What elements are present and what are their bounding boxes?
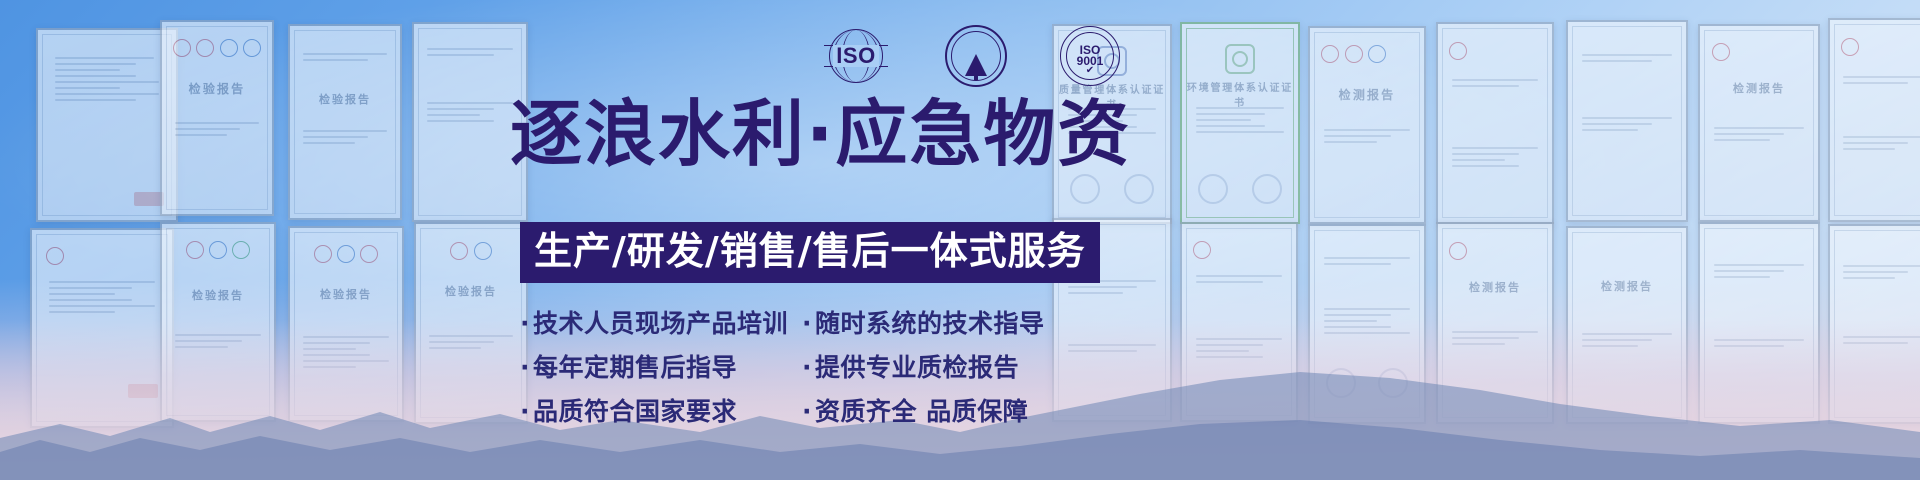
feature-item: ·提供专业质检报告 (802, 348, 1080, 384)
iso-14000-environment-icon (945, 25, 1007, 87)
iso-9001-quality-icon: ISO 9001 ✔ (1060, 26, 1120, 86)
feature-label: 技术人员现场产品培训 (533, 309, 788, 338)
feature-item: ·品质符合国家要求 (520, 392, 802, 428)
feature-label: 资质齐全 品质保障 (815, 397, 1028, 426)
feature-item: ·随时系统的技术指导 (802, 304, 1080, 340)
feature-label: 提供专业质检报告 (815, 353, 1019, 382)
bullet-dot-icon: · (802, 353, 812, 382)
bullet-dot-icon: · (802, 309, 812, 338)
iso-globe-label: ISO (833, 45, 878, 67)
feature-list: ·技术人员现场产品培训 ·随时系统的技术指导 ·每年定期售后指导 ·提供专业质检… (520, 300, 1080, 432)
bullet-dot-icon: · (520, 353, 530, 382)
bullet-dot-icon: · (802, 397, 812, 426)
bullet-dot-icon: · (520, 397, 530, 426)
banner-subtitle: 生产/研发/销售/售后一体式服务 (534, 228, 1086, 274)
banner-content: ISO ISO 9001 ✔ 逐浪水利·应急物资 生产/研发/销售/售后一体式服… (0, 0, 1920, 480)
banner-title: 逐浪水利·应急物资 (510, 96, 1090, 172)
feature-label: 品质符合国家要求 (533, 397, 737, 426)
promo-banner: 检验报告 检验报告 质量管理体系认证证书 环境管理体系认证证书 (0, 0, 1920, 480)
feature-item: ·每年定期售后指导 (520, 348, 802, 384)
feature-label: 每年定期售后指导 (533, 353, 737, 382)
iso-globe-icon: ISO (820, 29, 892, 83)
feature-item: ·技术人员现场产品培训 (520, 304, 802, 340)
iso-9001-line2: 9001 (1077, 54, 1104, 68)
certification-badges: ISO ISO 9001 ✔ (820, 24, 1120, 88)
feature-label: 随时系统的技术指导 (815, 309, 1045, 338)
bullet-dot-icon: · (520, 309, 530, 338)
banner-subtitle-bar: 生产/研发/销售/售后一体式服务 (520, 222, 1100, 283)
feature-item: ·资质齐全 品质保障 (802, 392, 1080, 428)
